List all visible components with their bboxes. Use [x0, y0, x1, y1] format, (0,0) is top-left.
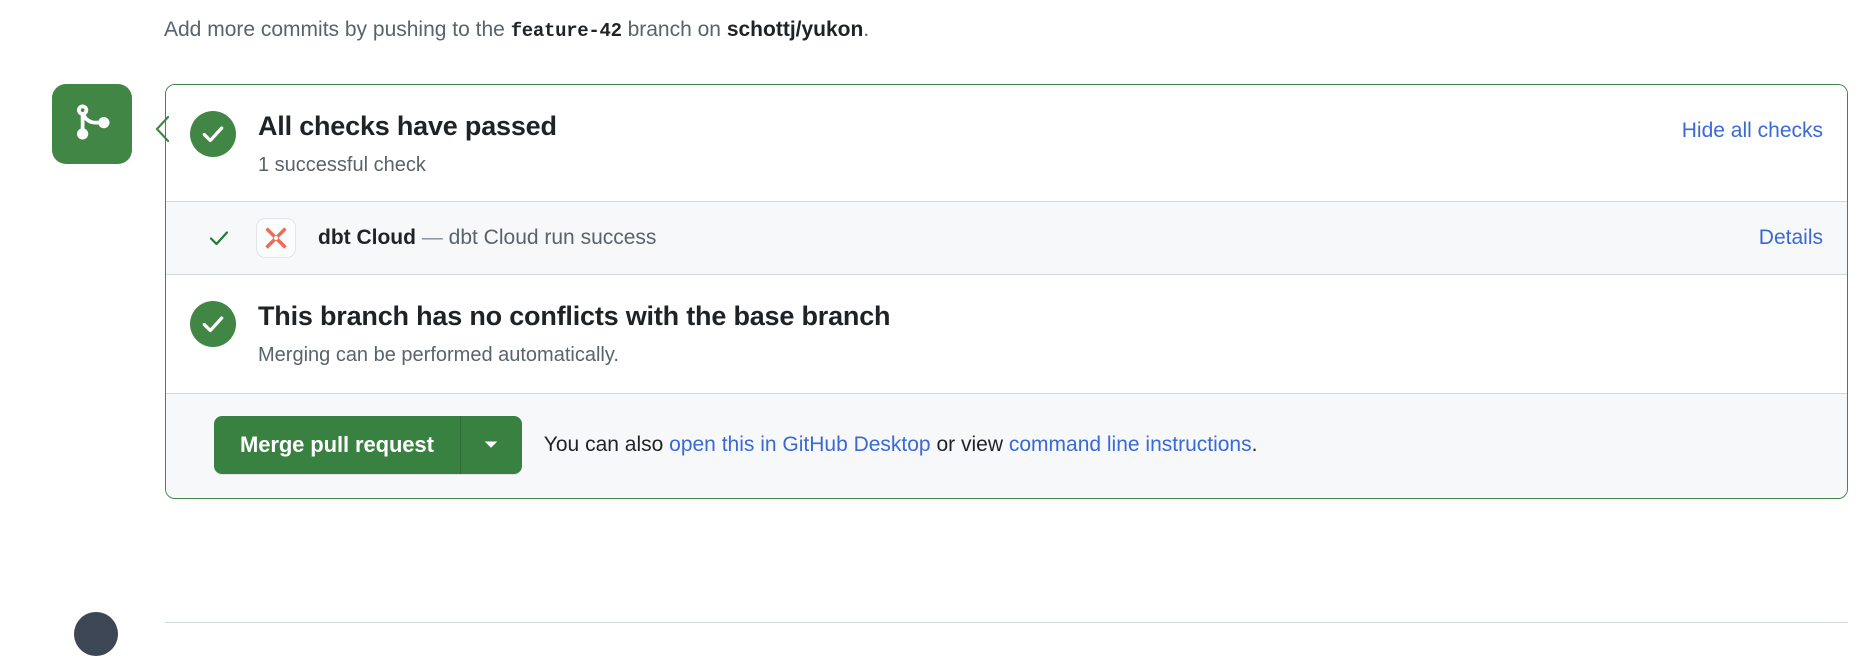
check-circle-icon	[190, 111, 236, 157]
notice-lead-text: Add more commits by pushing to the	[164, 18, 505, 41]
hide-all-checks-link[interactable]: Hide all checks	[1682, 117, 1823, 145]
merge-status-box: All checks have passed 1 successful chec…	[165, 84, 1848, 499]
command-line-instructions-link[interactable]: command line instructions	[1009, 433, 1252, 456]
conflicts-text: This branch has no conflicts with the ba…	[258, 299, 890, 369]
merge-alternatives-note: You can also open this in GitHub Desktop…	[544, 430, 1258, 460]
merge-pull-request-button[interactable]: Merge pull request	[214, 416, 460, 474]
merge-button-group: Merge pull request	[214, 416, 522, 474]
table-row[interactable]: dbt Cloud — dbt Cloud run success Detail…	[166, 201, 1847, 275]
check-context: dbt Cloud	[318, 226, 416, 249]
conflicts-subtitle: Merging can be performed automatically.	[258, 341, 890, 369]
merge-options-dropdown-button[interactable]	[460, 416, 522, 474]
repository-name: schottj/yukon	[727, 18, 864, 41]
notice-middle-text: branch on	[628, 18, 721, 41]
conflicts-status-section: This branch has no conflicts with the ba…	[166, 275, 1847, 394]
check-label: dbt Cloud — dbt Cloud run success	[318, 223, 1743, 253]
note-lead-text: You can also	[544, 433, 664, 456]
check-circle-icon	[190, 301, 236, 347]
push-more-commits-notice: Add more commits by pushing to the featu…	[164, 14, 869, 47]
note-end-text: .	[1252, 433, 1258, 456]
checks-subtitle: 1 successful check	[258, 151, 1666, 179]
merge-action-footer: Merge pull request You can also open thi…	[166, 394, 1847, 498]
branch-name: feature-42	[511, 20, 622, 42]
check-separator: —	[422, 226, 443, 249]
chevron-down-icon	[481, 434, 501, 457]
next-timeline-item-divider	[165, 622, 1848, 623]
conflicts-title: This branch has no conflicts with the ba…	[258, 299, 890, 333]
notice-period: .	[863, 18, 869, 41]
dbt-logo-icon	[256, 218, 296, 258]
check-icon	[204, 226, 234, 250]
github-desktop-link[interactable]: open this in GitHub Desktop	[669, 433, 930, 456]
checks-summary-header: All checks have passed 1 successful chec…	[166, 85, 1847, 201]
checks-summary-text: All checks have passed 1 successful chec…	[258, 109, 1666, 179]
avatar	[74, 612, 118, 656]
checks-title: All checks have passed	[258, 109, 1666, 143]
note-middle-text: or view	[936, 433, 1003, 456]
check-description: dbt Cloud run success	[449, 226, 657, 249]
timeline-merge-badge	[52, 84, 132, 164]
check-details-link[interactable]: Details	[1759, 226, 1823, 250]
merge-box-caret	[155, 116, 169, 140]
git-merge-icon	[72, 102, 112, 147]
